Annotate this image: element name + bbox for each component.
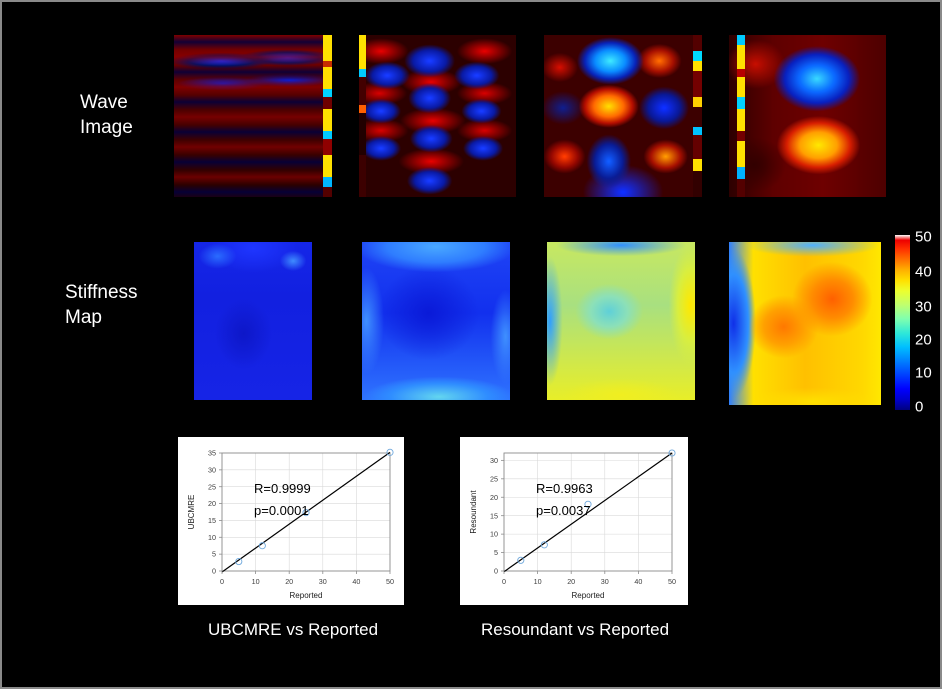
stiffness-panel-2 <box>362 242 510 400</box>
svg-text:50: 50 <box>668 577 676 586</box>
plot-ubcmre-vs-reported[interactable]: 0102030405005101520253035ReportedUBCMRER… <box>178 437 404 605</box>
wave-panel-4-edge-noise <box>737 35 745 197</box>
colorbar-tick-50: 50 <box>915 228 932 245</box>
svg-text:5: 5 <box>494 548 498 557</box>
svg-text:30: 30 <box>208 465 216 474</box>
wave-panel-1 <box>174 35 332 197</box>
stiffness-colorbar: 50 40 30 20 10 0 <box>895 235 940 410</box>
caption-ubcmre: UBCMRE vs Reported <box>168 620 418 640</box>
svg-text:0: 0 <box>220 577 224 586</box>
svg-text:0: 0 <box>494 567 498 576</box>
svg-text:0: 0 <box>212 567 216 576</box>
svg-text:5: 5 <box>212 550 216 559</box>
stiffness-panel-4 <box>729 242 881 405</box>
svg-text:p=0.0001: p=0.0001 <box>254 503 309 518</box>
colorbar-tick-20: 20 <box>915 332 932 349</box>
stiffness-panel-3 <box>547 242 695 400</box>
svg-text:30: 30 <box>601 577 609 586</box>
svg-text:UBCMRE: UBCMRE <box>187 495 196 530</box>
wave-panel-2 <box>359 35 516 197</box>
svg-text:15: 15 <box>208 516 216 525</box>
plot-resoundant-vs-reported[interactable]: 01020304050051015202530ReportedResoundan… <box>460 437 688 605</box>
svg-text:40: 40 <box>634 577 642 586</box>
svg-text:20: 20 <box>285 577 293 586</box>
svg-text:10: 10 <box>490 530 498 539</box>
svg-text:0: 0 <box>502 577 506 586</box>
row-label-wave-image: Wave Image <box>80 90 133 140</box>
svg-text:30: 30 <box>490 456 498 465</box>
svg-text:10: 10 <box>534 577 542 586</box>
colorbar-tick-30: 30 <box>915 298 932 315</box>
wave-panel-3 <box>544 35 702 197</box>
svg-text:25: 25 <box>490 474 498 483</box>
svg-text:10: 10 <box>252 577 260 586</box>
wave-panel-1-edge-noise <box>323 35 332 197</box>
svg-text:50: 50 <box>386 577 394 586</box>
svg-text:35: 35 <box>208 449 216 458</box>
svg-text:Reported: Reported <box>572 591 605 600</box>
svg-text:10: 10 <box>208 533 216 542</box>
resoundant-plot-svg: 01020304050051015202530ReportedResoundan… <box>460 437 688 605</box>
svg-text:25: 25 <box>208 482 216 491</box>
svg-text:20: 20 <box>490 493 498 502</box>
svg-text:p=0.0037: p=0.0037 <box>536 503 591 518</box>
svg-text:20: 20 <box>208 499 216 508</box>
svg-text:R=0.9999: R=0.9999 <box>254 481 311 496</box>
slide-canvas: Wave Image Stiffness Map 50 40 30 20 10 … <box>0 0 942 689</box>
svg-text:15: 15 <box>490 511 498 520</box>
row-label-stiffness-map: Stiffness Map <box>65 280 138 330</box>
colorbar-tick-40: 40 <box>915 263 932 280</box>
wave-panel-2-edge-noise <box>359 35 366 197</box>
wave-panel-3-edge-noise <box>693 35 702 197</box>
stiffness-panel-1 <box>194 242 312 400</box>
svg-text:Reported: Reported <box>290 591 323 600</box>
svg-text:30: 30 <box>319 577 327 586</box>
svg-text:40: 40 <box>352 577 360 586</box>
svg-text:Resoundant: Resoundant <box>469 490 478 534</box>
svg-text:20: 20 <box>567 577 575 586</box>
ubcmre-plot-svg: 0102030405005101520253035ReportedUBCMRER… <box>178 437 404 605</box>
colorbar-gradient <box>895 235 910 410</box>
colorbar-tick-0: 0 <box>915 398 923 415</box>
colorbar-tick-10: 10 <box>915 365 932 382</box>
caption-resoundant: Resoundant vs Reported <box>450 620 700 640</box>
svg-text:R=0.9963: R=0.9963 <box>536 481 593 496</box>
wave-panel-4 <box>729 35 886 197</box>
